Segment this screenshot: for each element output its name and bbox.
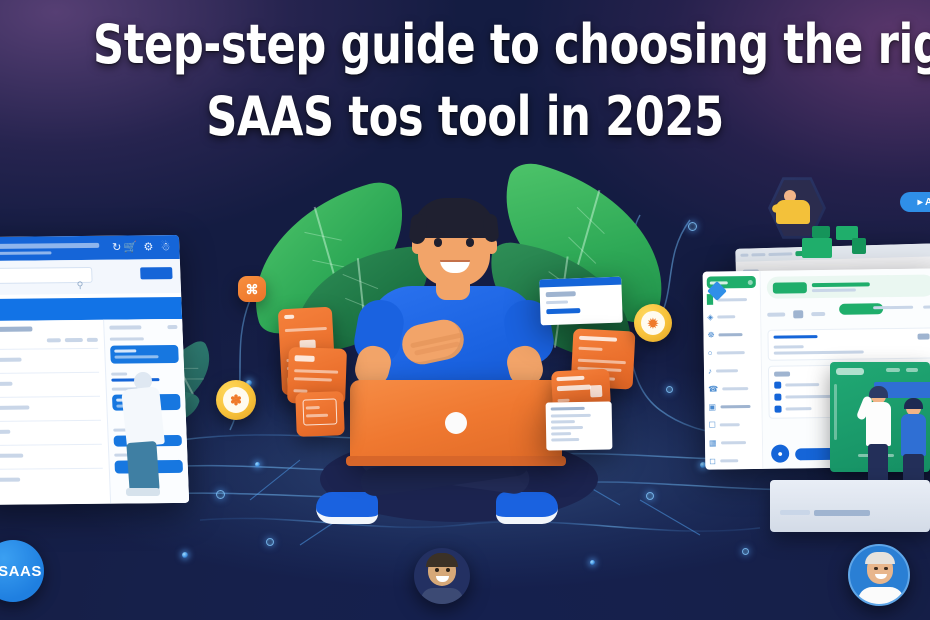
avatar-center[interactable] <box>414 548 470 604</box>
file-icon: ☐ <box>709 421 716 430</box>
share-badge[interactable]: ⌘ <box>238 276 266 302</box>
network-node <box>266 538 274 546</box>
circle-icon: ○ <box>708 349 713 358</box>
coin-left-glyph: ✽ <box>223 387 249 413</box>
sidebar-item[interactable]: ◈ <box>707 312 756 322</box>
network-node <box>182 552 188 558</box>
fab-button[interactable]: ● <box>771 444 789 462</box>
table-row[interactable] <box>0 372 100 397</box>
center-character <box>310 180 610 540</box>
table-row[interactable] <box>0 348 99 373</box>
left-dashboard-accentbar <box>0 297 182 321</box>
brand-chip <box>773 282 807 293</box>
shoe-left <box>316 492 378 524</box>
right-dashboard-sidebar: ▉ ◈ ☸ ○ ♪ ☎ ▣ ☐ ▦ ◻ <box>703 271 764 470</box>
poster-canvas: ↻ 🛒 ⚙ ☃ ⚲ <box>0 0 930 620</box>
user-icon[interactable]: ☃ <box>160 240 170 253</box>
note-icon: ♪ <box>708 367 712 376</box>
saas-badge-label: SAAS <box>0 563 42 580</box>
network-node <box>255 462 260 467</box>
right-device-base <box>770 480 930 532</box>
table-row[interactable] <box>0 468 104 493</box>
orange-card-left-3[interactable] <box>295 391 345 437</box>
share-badge-glyph: ⌘ <box>246 283 259 296</box>
network-node <box>742 548 749 555</box>
table-row[interactable] <box>0 444 103 469</box>
sidebar-item[interactable]: ♪ <box>708 366 757 376</box>
coin-right-glyph: ✹ <box>641 311 665 335</box>
chat-bubble <box>110 345 179 364</box>
detail-card <box>767 327 930 360</box>
sidebar-item[interactable]: ○ <box>708 348 757 358</box>
sidebar-item[interactable]: ◻ <box>709 456 758 466</box>
network-node <box>646 492 654 500</box>
shoe-right <box>496 492 558 524</box>
refresh-icon[interactable]: ↻ <box>112 241 122 254</box>
phone-icon: ☎ <box>708 384 718 393</box>
network-node <box>590 560 595 565</box>
top-chip-2[interactable] <box>812 226 830 238</box>
sidebar-item[interactable]: ▣ <box>708 402 757 412</box>
network-node <box>666 386 673 393</box>
top-chip-4[interactable] <box>852 238 866 254</box>
left-panel-figure <box>116 372 174 504</box>
ad-pill-label: ▸ Ad <box>918 197 930 208</box>
float-list-card[interactable] <box>546 401 613 450</box>
search-icon: ⚲ <box>77 280 84 291</box>
table-row[interactable] <box>0 396 101 421</box>
top-chip-1[interactable] <box>802 238 832 258</box>
stats-row <box>767 301 930 325</box>
dashboard-icon: ◈ <box>707 313 713 322</box>
cart-icon[interactable]: 🛒 <box>123 240 137 253</box>
laptop-logo <box>445 412 467 434</box>
ad-pill-button[interactable]: ▸ Ad <box>900 192 930 212</box>
settings-icon[interactable]: ⚙ <box>143 240 153 253</box>
primary-button[interactable] <box>140 267 172 279</box>
box-icon: ◻ <box>709 457 716 466</box>
coin-right[interactable]: ✹ <box>634 304 672 342</box>
hero-card <box>767 274 930 298</box>
float-browser-window[interactable] <box>539 277 623 326</box>
users-icon: ☸ <box>707 331 714 340</box>
sidebar-item[interactable]: ☐ <box>709 420 758 430</box>
sidebar-item[interactable]: ☸ <box>707 330 756 340</box>
table-row[interactable] <box>0 420 102 445</box>
sidebar-item[interactable]: ☎ <box>708 384 757 394</box>
coin-left[interactable]: ✽ <box>216 380 256 420</box>
left-dashboard-table <box>0 320 110 505</box>
book-icon: ▣ <box>708 402 716 411</box>
network-node <box>216 490 225 499</box>
left-dashboard-toolbar: ⚲ <box>0 259 181 295</box>
network-node <box>688 222 697 231</box>
left-dashboard-titlebar: ↻ 🛒 ⚙ ☃ <box>0 235 180 261</box>
calendar-icon: ▦ <box>709 438 717 447</box>
sidebar-item[interactable]: ▦ <box>709 438 758 448</box>
avatar-right[interactable] <box>848 544 910 606</box>
